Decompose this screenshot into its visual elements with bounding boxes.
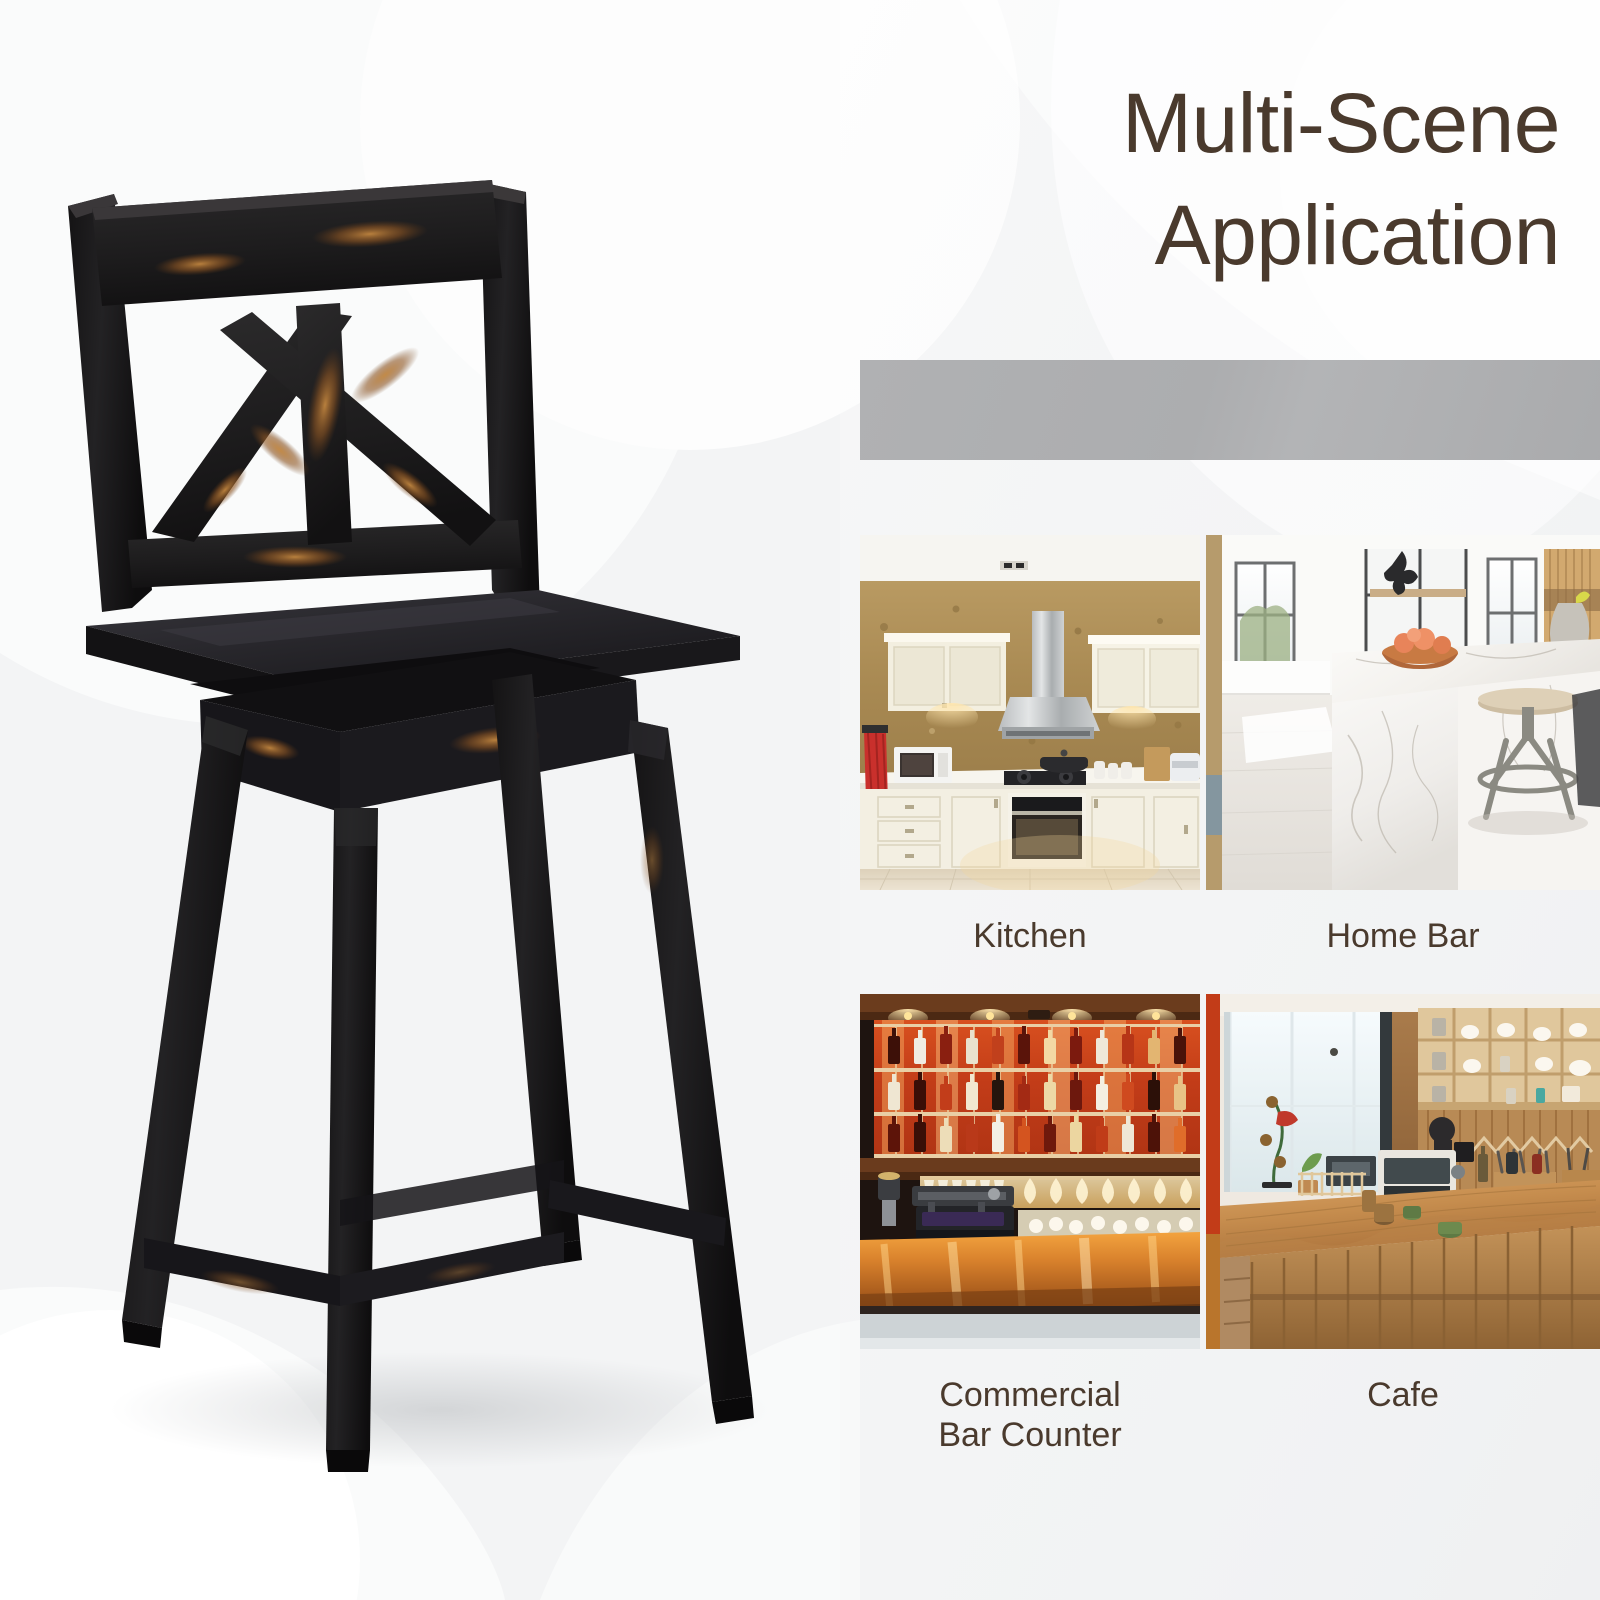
title-line-2: Application bbox=[860, 180, 1560, 292]
divider-bar bbox=[860, 360, 1600, 460]
caption-kitchen-line-1: Kitchen bbox=[860, 916, 1200, 956]
scene-card-cafe[interactable]: Cafe bbox=[1206, 994, 1600, 1455]
scene-grid: Kitchen bbox=[860, 535, 1600, 1455]
scene-card-kitchen[interactable]: Kitchen bbox=[860, 535, 1200, 986]
caption-kitchen: Kitchen bbox=[860, 890, 1200, 986]
commercial-bar-counter-photo bbox=[860, 994, 1200, 1349]
caption-cafe-line-1: Cafe bbox=[1206, 1375, 1600, 1415]
row-spacer bbox=[860, 986, 1600, 994]
kitchen-photo bbox=[860, 535, 1200, 890]
content-panel: Multi-Scene Application bbox=[840, 0, 1600, 1600]
caption-home-bar-line-1: Home Bar bbox=[1206, 916, 1600, 956]
scene-row-bottom: Commercial Bar Counter bbox=[860, 994, 1600, 1455]
caption-commercial-bar-counter-line-2: Bar Counter bbox=[860, 1415, 1200, 1455]
title-line-1: Multi-Scene bbox=[860, 68, 1560, 180]
product-image-panel bbox=[0, 0, 840, 1600]
home-bar-photo bbox=[1206, 535, 1600, 890]
scene-card-commercial-bar-counter[interactable]: Commercial Bar Counter bbox=[860, 994, 1200, 1455]
bar-stool-product-photo bbox=[40, 160, 800, 1480]
caption-commercial-bar-counter: Commercial Bar Counter bbox=[860, 1349, 1200, 1455]
caption-cafe: Cafe bbox=[1206, 1349, 1600, 1445]
caption-commercial-bar-counter-line-1: Commercial bbox=[860, 1375, 1200, 1415]
caption-home-bar: Home Bar bbox=[1206, 890, 1600, 986]
page-title: Multi-Scene Application bbox=[860, 68, 1560, 291]
scene-card-home-bar[interactable]: Home Bar bbox=[1206, 535, 1600, 986]
scene-row-top: Kitchen bbox=[860, 535, 1600, 986]
cafe-photo bbox=[1206, 994, 1600, 1349]
